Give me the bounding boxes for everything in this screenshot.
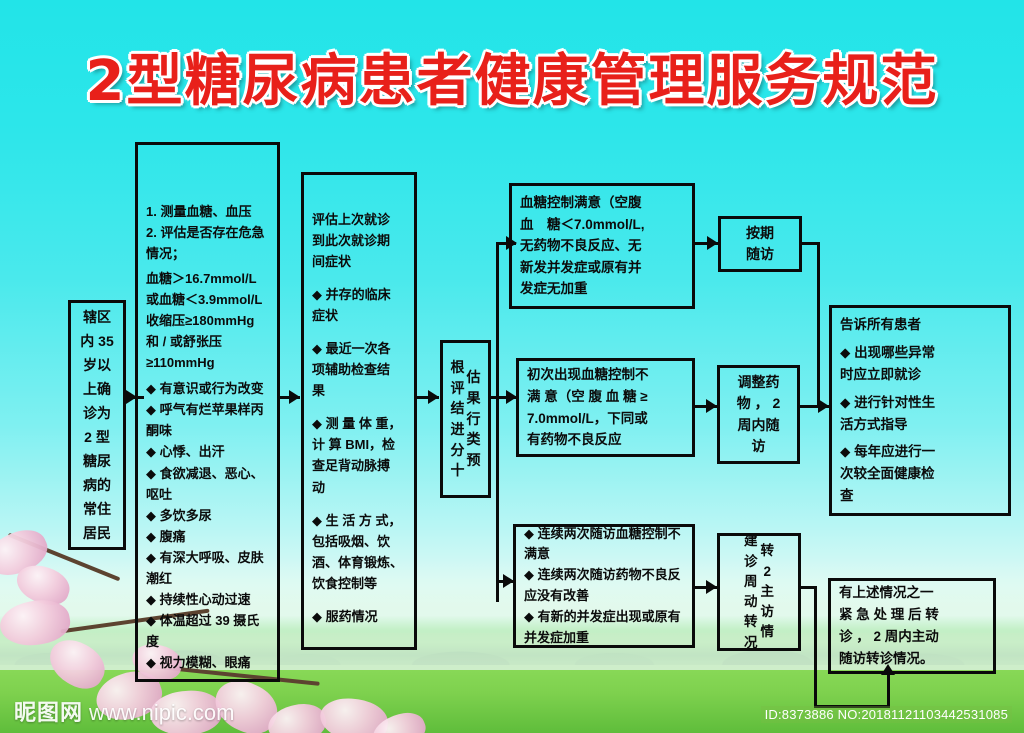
tell-patients-line: 查 — [840, 485, 1000, 507]
refer-condition-line: 满意 — [524, 544, 684, 565]
classify-char: 预 — [467, 450, 481, 471]
followup-line: 随访 — [746, 244, 774, 265]
arrow-controlled-to-followup — [707, 236, 718, 250]
measure-line: ◆ 视力模糊、眼痛 — [146, 652, 269, 673]
suggest-refer-char: 诊 — [744, 552, 758, 572]
assess-spacer — [312, 594, 406, 606]
followup-line: 按期 — [746, 223, 774, 244]
measure-line: 血糖＞16.7mmol/L — [146, 268, 269, 289]
node-suggest-refer[interactable]: 建 诊 周 动 转 况 转 2 主 访 情 — [717, 533, 801, 651]
assess-line: ◆ 并存的临床 — [312, 284, 406, 305]
suggest-refer-char: 转 — [744, 612, 758, 632]
assess-line: 饮食控制等 — [312, 573, 406, 594]
measure-line: ≥110mmHg — [146, 352, 269, 373]
emergency-line: 紧 急 处 理 后 转 — [839, 604, 985, 626]
population-line: 辖区 — [79, 305, 115, 329]
suggest-refer-char: 情 — [761, 622, 775, 642]
classify-char: 分 — [451, 440, 465, 461]
suggest-refer-char: 访 — [761, 602, 775, 622]
suggest-refer-char: 建 — [744, 531, 758, 551]
adjust-line: 物 ， 2 — [737, 393, 781, 414]
measure-line: ◆ 多饮多尿 — [146, 505, 269, 526]
arrow-uncontrolled-to-adjust — [706, 399, 717, 413]
image-id-watermark: ID:8373886 NO:20181121103442531085 — [761, 706, 1012, 723]
assess-spacer — [312, 272, 406, 284]
assess-line: 计 算 BMI，检 — [312, 434, 406, 455]
assess-spacer — [312, 326, 406, 338]
assess-line: 酒、体育锻炼、 — [312, 552, 406, 573]
tell-patients-line: 时应立即就诊 — [840, 364, 1000, 386]
population-line: 2 型 — [79, 425, 115, 449]
node-first-uncontrolled[interactable]: 初次出现血糖控制不 满 意（空 腹 血 糖 ≥ 7.0mmol/L，下同或 有药… — [516, 358, 695, 457]
suggest-refer-char: 2 — [761, 562, 775, 582]
measure-line: ◆ 心悸、出汗 — [146, 441, 269, 462]
population-line: 内 35 — [79, 329, 115, 353]
site-watermark: 昵图网www.nipic.com — [14, 695, 235, 727]
poster-canvas: 2型糖尿病患者健康管理服务规范 辖区 内 35 岁以 上确 诊为 2 — [0, 0, 1024, 733]
node-regular-followup[interactable]: 按期 随访 — [718, 216, 802, 272]
assess-line: ◆ 测 量 体 重， — [312, 413, 406, 434]
adjust-line: 调整药 — [738, 372, 780, 393]
uncontrolled-line: 满 意（空 腹 血 糖 ≥ — [527, 386, 684, 408]
classify-char: 进 — [451, 419, 465, 440]
site-name-cn: 昵图网 — [14, 700, 83, 725]
connector-right-trunk — [817, 242, 820, 406]
emergency-line: 有上述情况之一 — [839, 582, 985, 604]
assess-spacer — [312, 401, 406, 413]
node-adjust-drug[interactable]: 调整药 物 ， 2 周内随 访 — [717, 365, 800, 464]
adjust-line: 周内随 — [738, 415, 780, 436]
classify-char: 估 — [467, 367, 481, 388]
assess-line: 果 — [312, 380, 406, 401]
refer-condition-line: ◆ 连续两次随访血糖控制不 — [524, 524, 684, 545]
controlled-line: 血糖控制满意（空腹 — [520, 192, 684, 214]
emergency-line: 诊 ， 2 周内主动 — [839, 626, 985, 648]
suggest-refer-char: 况 — [744, 633, 758, 653]
uncontrolled-line: 初次出现血糖控制不 — [527, 364, 684, 386]
measure-line: ◆ 食欲减退、恶心、 — [146, 463, 269, 484]
assess-line: ◆ 服药情况 — [312, 606, 406, 627]
node-measure[interactable]: 1. 测量血糖、血压 2. 评估是否存在危急 情况； 血糖＞16.7mmol/L… — [135, 142, 280, 682]
classify-char: 根 — [451, 357, 465, 378]
tell-patients-line: 活方式指导 — [840, 414, 1000, 436]
tell-patients-line: 次较全面健康检 — [840, 463, 1000, 485]
classify-char: 果 — [467, 388, 481, 409]
measure-line: ◆ 有深大呼吸、皮肤 — [146, 547, 269, 568]
node-classify[interactable]: 根 评 结 进 分 十 估 果 行 类 预 — [440, 340, 491, 498]
assess-line: 查足背动脉搏 — [312, 455, 406, 476]
assess-line: 动 — [312, 477, 406, 498]
suggest-refer-char: 转 — [761, 541, 775, 561]
controlled-line: 无药物不良反应、无 — [520, 235, 684, 257]
controlled-line: 血 糖＜7.0mmol/L, — [520, 214, 684, 236]
classify-char: 十 — [451, 460, 465, 481]
node-tell-patients[interactable]: 告诉所有患者 ◆ 出现哪些异常 时应立即就诊 ◆ 进行针对性生 活方式指导 ◆ … — [829, 305, 1011, 516]
assess-line: 间症状 — [312, 251, 406, 272]
assess-line: 项辅助检查结 — [312, 359, 406, 380]
suggest-refer-char: 周 — [744, 572, 758, 592]
assess-line: 到此次就诊期 — [312, 230, 406, 251]
emergency-line: 随访转诊情况。 — [839, 648, 985, 670]
node-population[interactable]: 辖区 内 35 岁以 上确 诊为 2 型 糖尿 病的 常住 居民 — [68, 300, 126, 550]
population-line: 病的 — [79, 473, 115, 497]
node-emergency[interactable]: 有上述情况之一 紧 急 处 理 后 转 诊 ， 2 周内主动 随访转诊情况。 — [828, 578, 996, 674]
assess-line: 评估上次就诊 — [312, 209, 406, 230]
refer-condition-line: ◆ 有新的并发症出现或原有 — [524, 607, 684, 628]
classify-char: 类 — [467, 429, 481, 450]
population-line: 岁以 — [79, 353, 115, 377]
classify-char: 行 — [467, 409, 481, 430]
assess-line: ◆ 生 活 方 式， — [312, 510, 406, 531]
measure-line: 呕吐 — [146, 484, 269, 505]
node-assess[interactable]: 评估上次就诊 到此次就诊期 间症状 ◆ 并存的临床 症状 ◆ 最近一次各 项辅助… — [301, 172, 417, 650]
arrow-to-tell-patients — [818, 399, 829, 413]
measure-line: 情况； — [146, 243, 269, 264]
tell-patients-line: ◆ 进行针对性生 — [840, 392, 1000, 414]
classify-char: 评 — [451, 378, 465, 399]
measure-line: 收缩压≥180mmHg — [146, 310, 269, 331]
measure-line: ◆ 腹痛 — [146, 526, 269, 547]
measure-line: ◆ 体温超过 39 摄氏 — [146, 610, 269, 631]
population-line: 居民 — [79, 521, 115, 545]
measure-line: ◆ 持续性心动过速 — [146, 589, 269, 610]
measure-line: 度 — [146, 631, 269, 652]
controlled-line: 发症无加重 — [520, 278, 684, 300]
classify-char: 结 — [451, 398, 465, 419]
arrow-refercond-to-suggest — [706, 580, 717, 594]
assess-line: 包括吸烟、饮 — [312, 531, 406, 552]
node-refer-condition[interactable]: ◆ 连续两次随访血糖控制不 满意 ◆ 连续两次随访药物不良反 应没有改善 ◆ 有… — [513, 524, 695, 648]
measure-line: 潮红 — [146, 568, 269, 589]
tell-patients-line: 告诉所有患者 — [840, 314, 1000, 336]
controlled-line: 新发并发症或原有并 — [520, 257, 684, 279]
measure-line: 和 / 或舒张压 — [146, 331, 269, 352]
connector-emergency-up — [887, 672, 890, 708]
suggest-refer-char: 动 — [744, 592, 758, 612]
site-url: www.nipic.com — [89, 700, 234, 725]
measure-line: ◆ 呼气有烂苹果样丙 — [146, 399, 269, 420]
measure-line: 2. 评估是否存在危急 — [146, 222, 269, 243]
measure-line: 酮味 — [146, 420, 269, 441]
page-title: 2型糖尿病患者健康管理服务规范 — [0, 44, 1024, 120]
refer-condition-line: 应没有改善 — [524, 586, 684, 607]
connector-branch-trunk-lower — [496, 396, 499, 582]
measure-line: 1. 测量血糖、血压 — [146, 201, 269, 222]
population-line: 上确 — [79, 377, 115, 401]
uncontrolled-line: 7.0mmol/L，下同或 — [527, 408, 684, 430]
tell-patients-line: ◆ 出现哪些异常 — [840, 342, 1000, 364]
suggest-refer-char: 主 — [761, 582, 775, 602]
uncontrolled-line: 有药物不良反应 — [527, 429, 684, 451]
refer-condition-line: 并发症加重 — [524, 628, 684, 649]
measure-line: ◆ 有意识或行为改变 — [146, 378, 269, 399]
population-line: 糖尿 — [79, 449, 115, 473]
refer-condition-line: ◆ 连续两次随访药物不良反 — [524, 565, 684, 586]
assess-line: ◆ 最近一次各 — [312, 338, 406, 359]
connector-emergency-down — [814, 586, 817, 708]
arrow-measure-to-assess — [289, 390, 300, 404]
population-line: 常住 — [79, 497, 115, 521]
assess-spacer — [312, 498, 406, 510]
adjust-line: 访 — [752, 436, 766, 457]
measure-line: 或血糖＜3.9mmol/L — [146, 289, 269, 310]
population-line: 诊为 — [79, 401, 115, 425]
assess-line: 症状 — [312, 305, 406, 326]
node-controlled[interactable]: 血糖控制满意（空腹 血 糖＜7.0mmol/L, 无药物不良反应、无 新发并发症… — [509, 183, 695, 309]
tell-patients-line: ◆ 每年应进行一 — [840, 441, 1000, 463]
arrow-assess-to-classify — [428, 390, 439, 404]
